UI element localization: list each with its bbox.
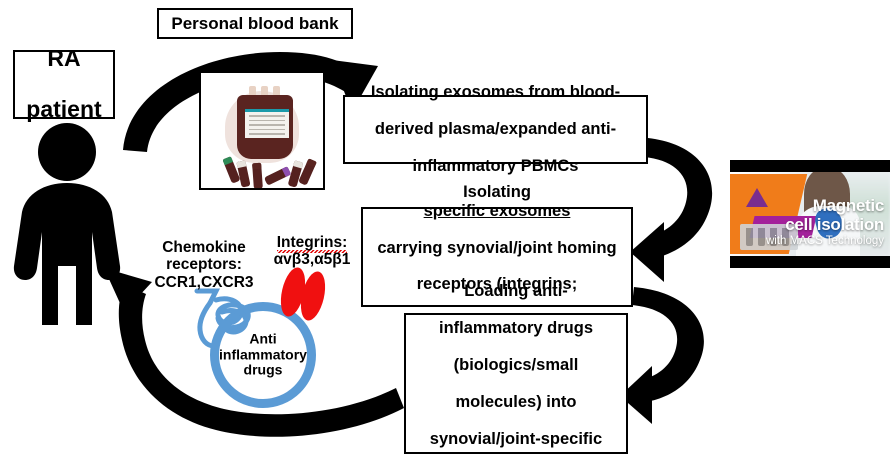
step1-line1: Isolating exosomes from blood-: [345, 83, 646, 101]
integrins-label: Integrins: αvβ3,α5β1: [262, 234, 362, 269]
blood-bag-label: [245, 109, 289, 138]
step3-line4: molecules) into: [406, 393, 626, 411]
step3-loading-drugs-box: Loading anti- inflammatory drugs (biolog…: [404, 313, 628, 454]
step3-line3: (biologics/small: [406, 356, 626, 374]
chemokine-receptor-icon: [197, 291, 248, 346]
step2-line1-plain: Isolating: [363, 183, 631, 201]
magnetic-cell-isolation-thumbnail[interactable]: Magnetic cell isolation with MACS Techno…: [730, 160, 890, 268]
chemokine-receptors-label: Chemokine receptors: CCR1,CXCR3: [140, 239, 268, 291]
personal-blood-bank-label: Personal blood bank: [159, 14, 351, 33]
blood-bag-photo: [199, 71, 325, 190]
macs-title-line1: Magnetic: [813, 196, 884, 216]
ra-patient-line1: RA: [15, 46, 113, 72]
chemokine-line3: CCR1,CXCR3: [154, 274, 253, 291]
step1-line2: derived plasma/expanded anti-: [345, 120, 646, 138]
step2-line1-underlined: specific exosomes: [363, 202, 631, 220]
integrins-title: Integrins:: [277, 234, 348, 253]
macs-title-line2: cell isolation: [785, 215, 884, 235]
macs-subtitle: with MACS Technology: [766, 235, 884, 247]
blood-tube-2: [236, 160, 250, 187]
step1-line3: inflammatory PBMCs: [345, 157, 646, 175]
step3-line5: synovial/joint-specific: [406, 430, 626, 448]
personal-blood-bank-box: Personal blood bank: [157, 8, 353, 39]
chemokine-line1: Chemokine: [162, 239, 246, 256]
diagram-canvas: RA patient Personal blood bank Isolating…: [0, 0, 892, 462]
ra-patient-line2: patient: [15, 97, 113, 123]
step2-line2: carrying synovial/joint homing: [363, 239, 631, 257]
chemokine-line2: receptors:: [166, 256, 242, 273]
macs-thumbnail-image: Magnetic cell isolation with MACS Techno…: [730, 172, 890, 256]
integrins-values: αvβ3,α5β1: [274, 251, 351, 268]
integrin-icon: [277, 265, 330, 323]
step1-isolating-exosomes-box: Isolating exosomes from blood- derived p…: [343, 95, 648, 164]
miltenyi-logo-icon: [746, 188, 768, 207]
step3-line1: Loading anti-: [406, 282, 626, 300]
blood-tube-3: [252, 163, 263, 190]
step3-line2: inflammatory drugs: [406, 319, 626, 337]
ra-patient-box: RA patient: [13, 50, 115, 119]
